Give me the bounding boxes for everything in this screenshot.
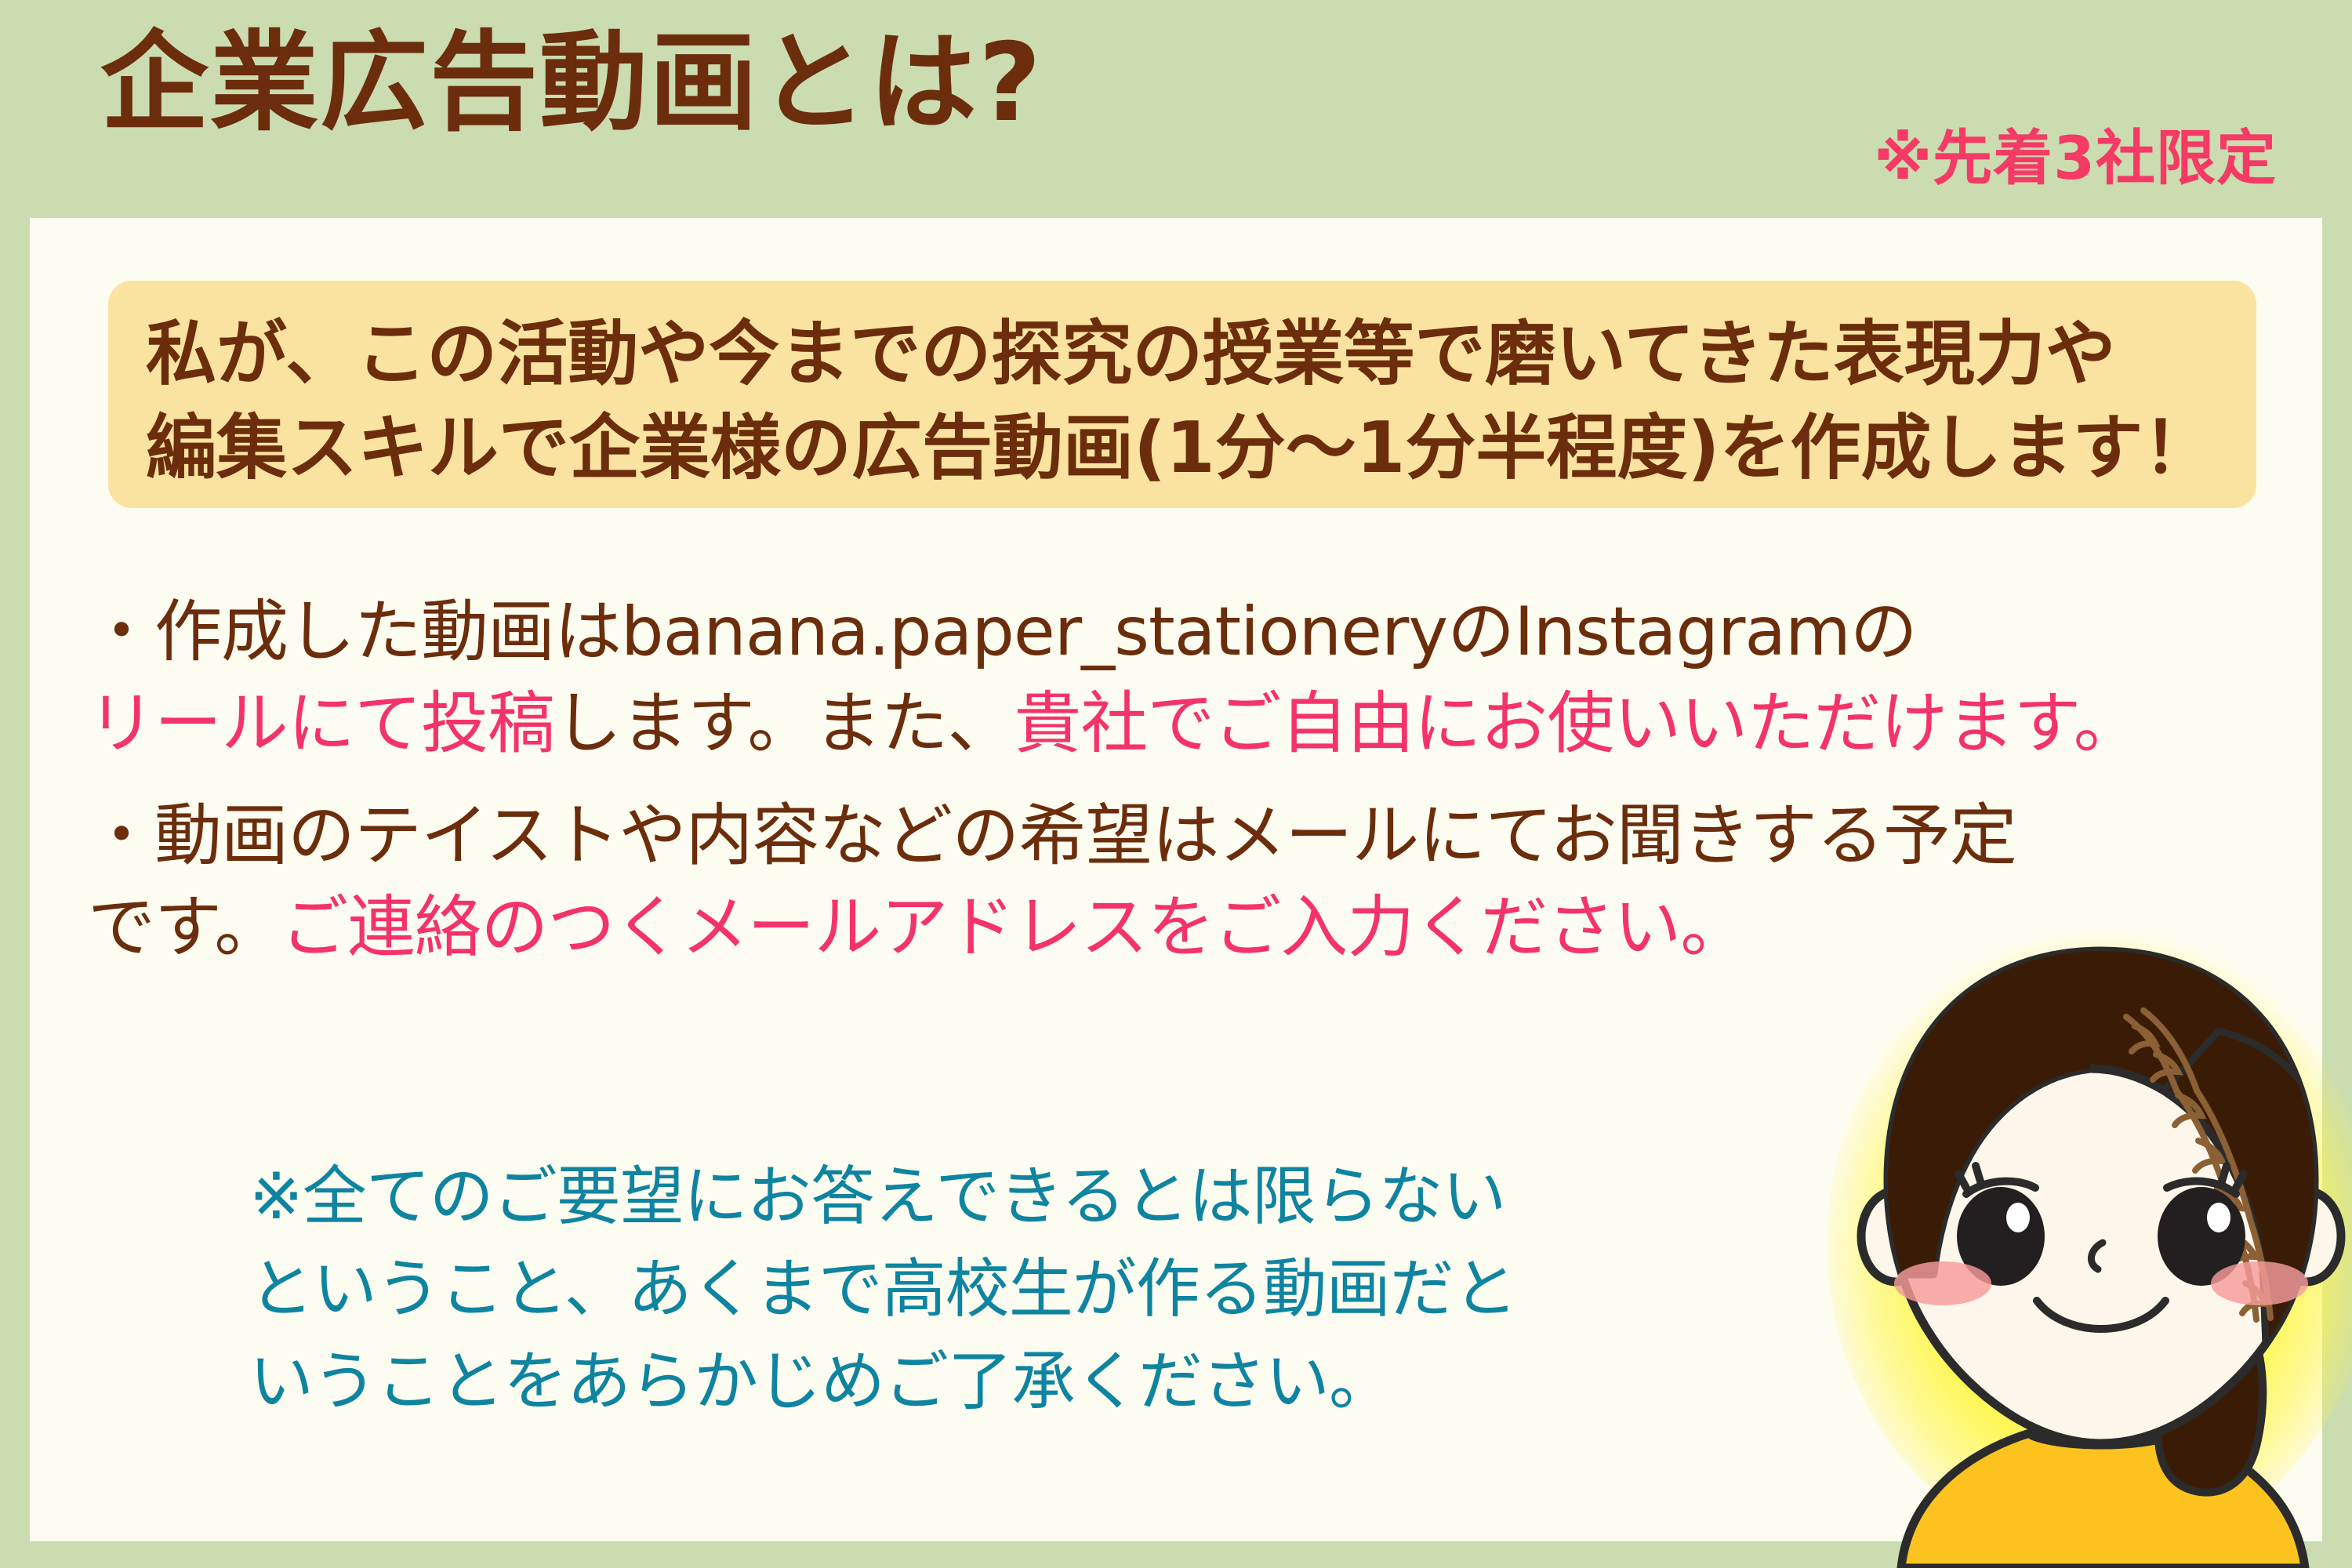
bullet-2-line-1: ・動画のテイストや内容などの希望はメールにてお聞きする予定 [88, 790, 2283, 882]
highlight-line-1: 私が、この活動や今までの探究の授業等で磨いてきた表現力や [146, 307, 2219, 401]
highlight-line-2: 編集スキルで企業様の広告動画(1分〜1分半程度)を作成します！ [146, 401, 2219, 495]
bullet-2-brown-segment: です。 [88, 888, 281, 967]
bullet-2-pink-segment: ご連絡のつくメールアドレスをご入力ください。 [281, 888, 1747, 967]
page-title: 企業広告動画とは? [100, 24, 1043, 143]
disclaimer-line-1: ※全てのご要望にお答えできるとは限らない [249, 1151, 1896, 1243]
bullet-1-brown-segment: します。また、 [554, 684, 1014, 763]
limited-offer-badge: ※先着3社限定 [1874, 110, 2277, 196]
bullet-1-line-1: ・作成した動画はbanana.paper_stationeryのInstagra… [88, 586, 2283, 678]
disclaimer-line-3: いうことをあらかじめご了承ください。 [249, 1336, 1896, 1428]
bullet-2-line-2: です。ご連絡のつくメールアドレスをご入力ください。 [88, 882, 2283, 974]
bullet-1-pink-segment-a: リールにて投稿 [88, 684, 554, 763]
highlight-box: 私が、この活動や今までの探究の授業等で磨いてきた表現力や 編集スキルで企業様の広… [108, 281, 2256, 508]
disclaimer-block: ※全てのご要望にお答えできるとは限らない ということ、あくまで高校生が作る動画だ… [249, 1151, 1896, 1428]
bullet-1-line-2: リールにて投稿します。また、貴社でご自由にお使いいただけます。 [88, 678, 2283, 770]
bullet-item-2: ・動画のテイストや内容などの希望はメールにてお聞きする予定 です。ご連絡のつくメ… [88, 790, 2283, 974]
slide-root: 企業広告動画とは? ※先着3社限定 私が、この活動や今までの探究の授業等で磨いて… [0, 0, 2352, 1568]
disclaimer-line-2: ということ、あくまで高校生が作る動画だと [249, 1243, 1896, 1336]
content-card: 私が、この活動や今までの探究の授業等で磨いてきた表現力や 編集スキルで企業様の広… [30, 218, 2322, 1541]
bullet-1-pink-segment-b: 貴社でご自由にお使いいただけます。 [1014, 684, 2140, 763]
slide-header: 企業広告動画とは? ※先着3社限定 [0, 0, 2352, 218]
bullet-item-1: ・作成した動画はbanana.paper_stationeryのInstagra… [88, 586, 2283, 770]
